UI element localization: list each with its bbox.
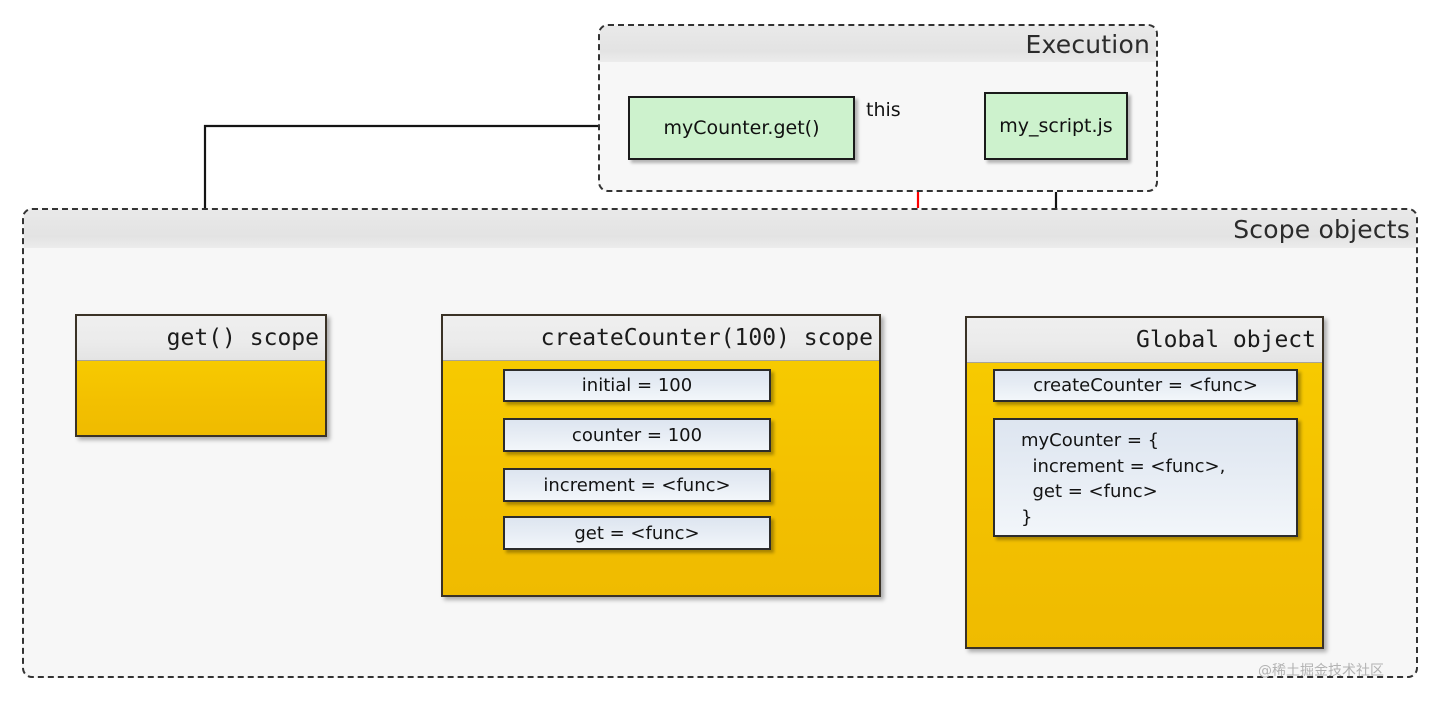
variable-global-createcounter[interactable]: createCounter = <func> <box>993 369 1298 402</box>
scope-box-global-object-header: Global object <box>967 318 1322 363</box>
execution-box-mycounter-get[interactable]: myCounter.get() <box>628 96 855 160</box>
diagram-canvas: Execution myCounter.get() my_script.js t… <box>0 0 1440 702</box>
scope-box-create-counter-header: createCounter(100) scope <box>443 316 879 361</box>
execution-container-header: Execution <box>600 26 1156 62</box>
execution-container-title: Execution <box>1026 30 1150 59</box>
scope-objects-container-header: Scope objects <box>24 210 1416 248</box>
variable-initial-label: initial = 100 <box>582 375 692 396</box>
scope-box-create-counter[interactable]: createCounter(100) scope <box>441 314 881 597</box>
this-edge-label: this <box>866 99 901 121</box>
variable-increment-label: increment = <func> <box>543 475 730 496</box>
variable-global-mycounter-line-4: } <box>1021 505 1282 531</box>
variable-get[interactable]: get = <func> <box>503 516 771 550</box>
variable-initial[interactable]: initial = 100 <box>503 369 771 402</box>
scope-box-get-scope[interactable]: get() scope <box>75 314 327 437</box>
variable-counter-label: counter = 100 <box>572 425 702 446</box>
scope-box-get-scope-body <box>77 361 325 435</box>
variable-global-createcounter-label: createCounter = <func> <box>1033 375 1258 396</box>
variable-counter[interactable]: counter = 100 <box>503 418 771 452</box>
execution-box-my-script-label: my_script.js <box>999 115 1112 137</box>
variable-increment[interactable]: increment = <func> <box>503 468 771 502</box>
execution-box-mycounter-get-label: myCounter.get() <box>664 117 820 139</box>
watermark: @稀土掘金技术社区 <box>1258 660 1384 680</box>
scope-box-get-scope-title: get() scope <box>167 325 319 351</box>
variable-global-mycounter-line-2: increment = <func>, <box>1021 454 1282 480</box>
scope-box-global-object-title: Global object <box>1136 327 1316 353</box>
scope-box-create-counter-title: createCounter(100) scope <box>541 325 873 351</box>
execution-box-my-script[interactable]: my_script.js <box>984 92 1128 160</box>
variable-global-mycounter[interactable]: myCounter = { increment = <func>, get = … <box>993 418 1298 537</box>
variable-global-mycounter-line-3: get = <func> <box>1021 479 1282 505</box>
variable-global-mycounter-line-1: myCounter = { <box>1021 428 1282 454</box>
scope-objects-container-title: Scope objects <box>1233 215 1410 244</box>
scope-box-get-scope-header: get() scope <box>77 316 325 361</box>
variable-get-label: get = <func> <box>574 523 699 544</box>
